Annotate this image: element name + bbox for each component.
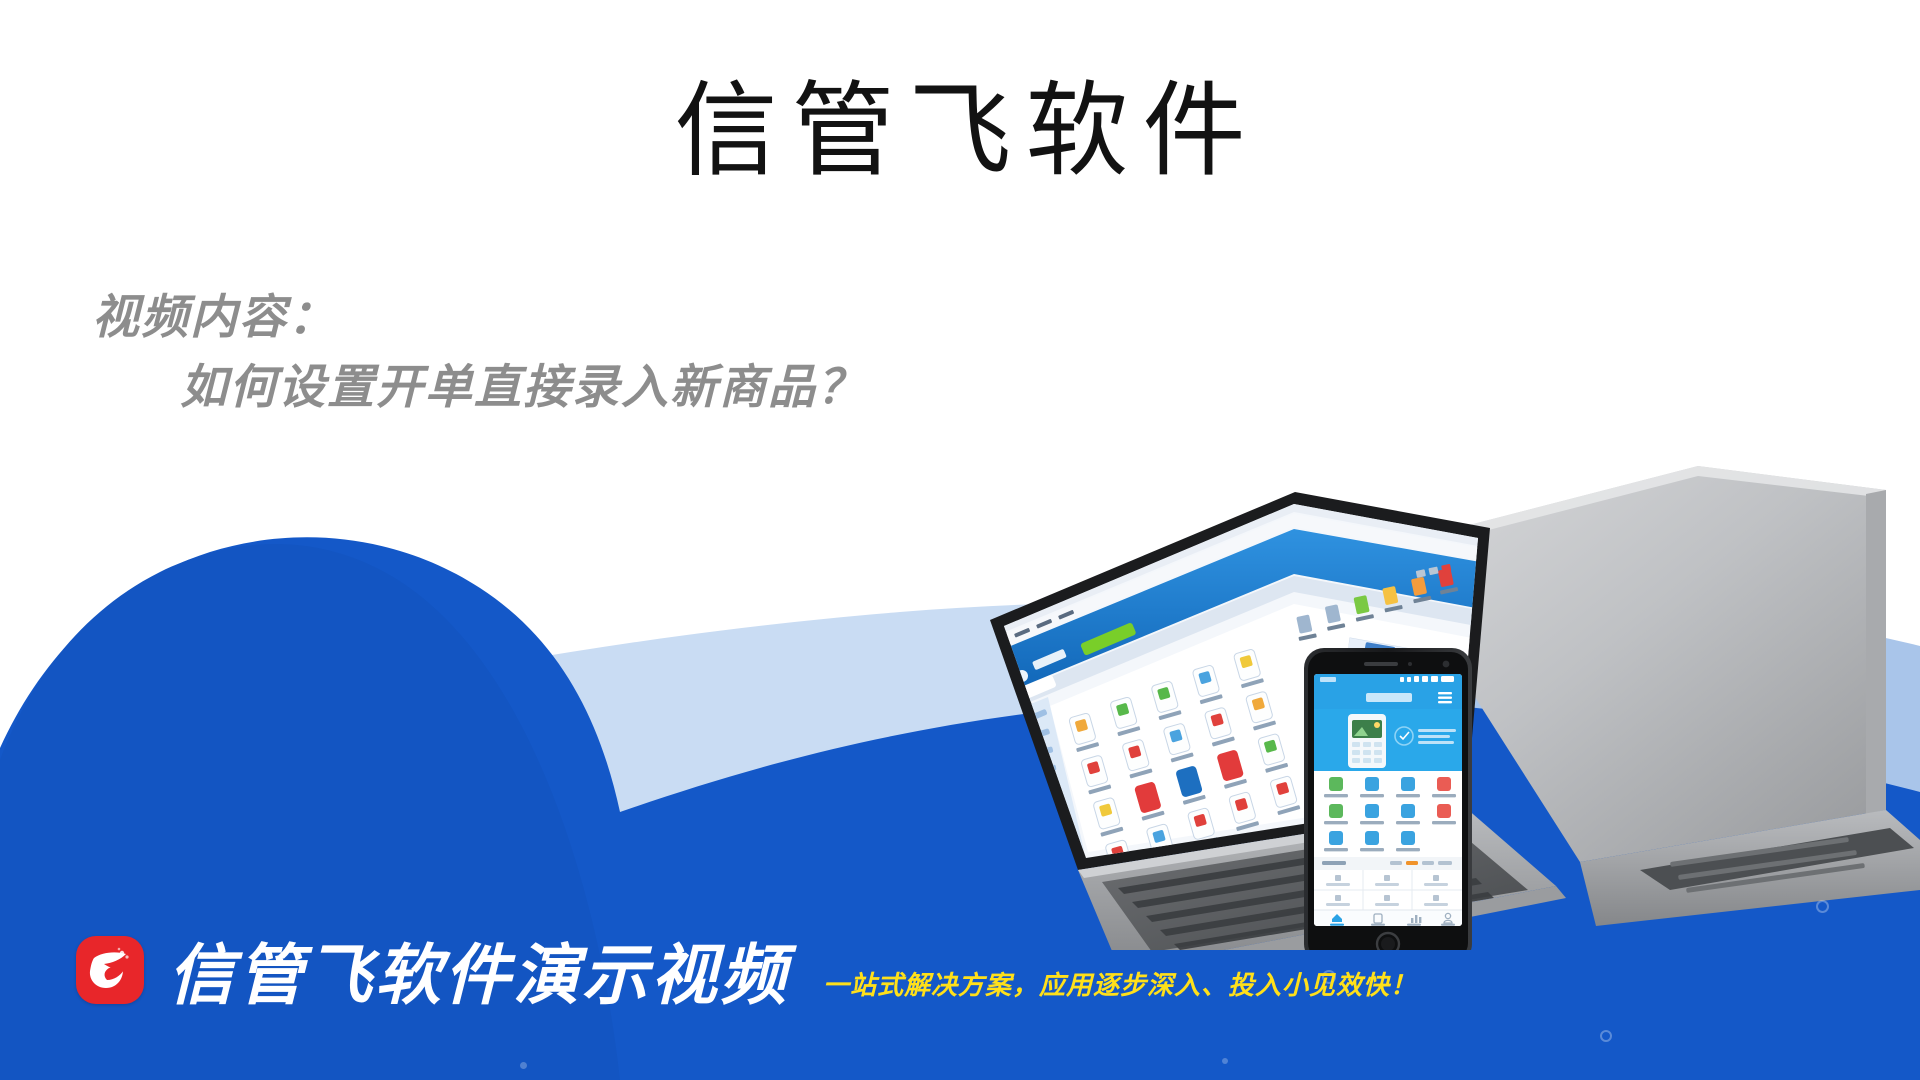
brand-tagline: 一站式解决方案，应用逐步深入、投入小见效快！ xyxy=(823,972,1417,998)
slide-root: 信管飞软件 视频内容： 如何设置开单直接录入新商品？ xyxy=(0,0,1920,1080)
subtitle-label: 视频内容： xyxy=(92,282,1192,352)
xinguanfei-logo-icon xyxy=(76,936,144,1004)
device-showcase xyxy=(880,370,1920,950)
brand-row: 信管飞软件演示视频 一站式解决方案，应用逐步深入、投入小见效快！ xyxy=(76,936,1417,1008)
laptop-open-front xyxy=(990,490,1566,950)
page-title: 信管飞软件 xyxy=(0,78,1920,186)
brand-bar: 信管飞软件演示视频 一站式解决方案，应用逐步深入、投入小见效快！ xyxy=(0,884,1920,1080)
brand-name: 信管飞软件演示视频 xyxy=(168,942,789,1008)
